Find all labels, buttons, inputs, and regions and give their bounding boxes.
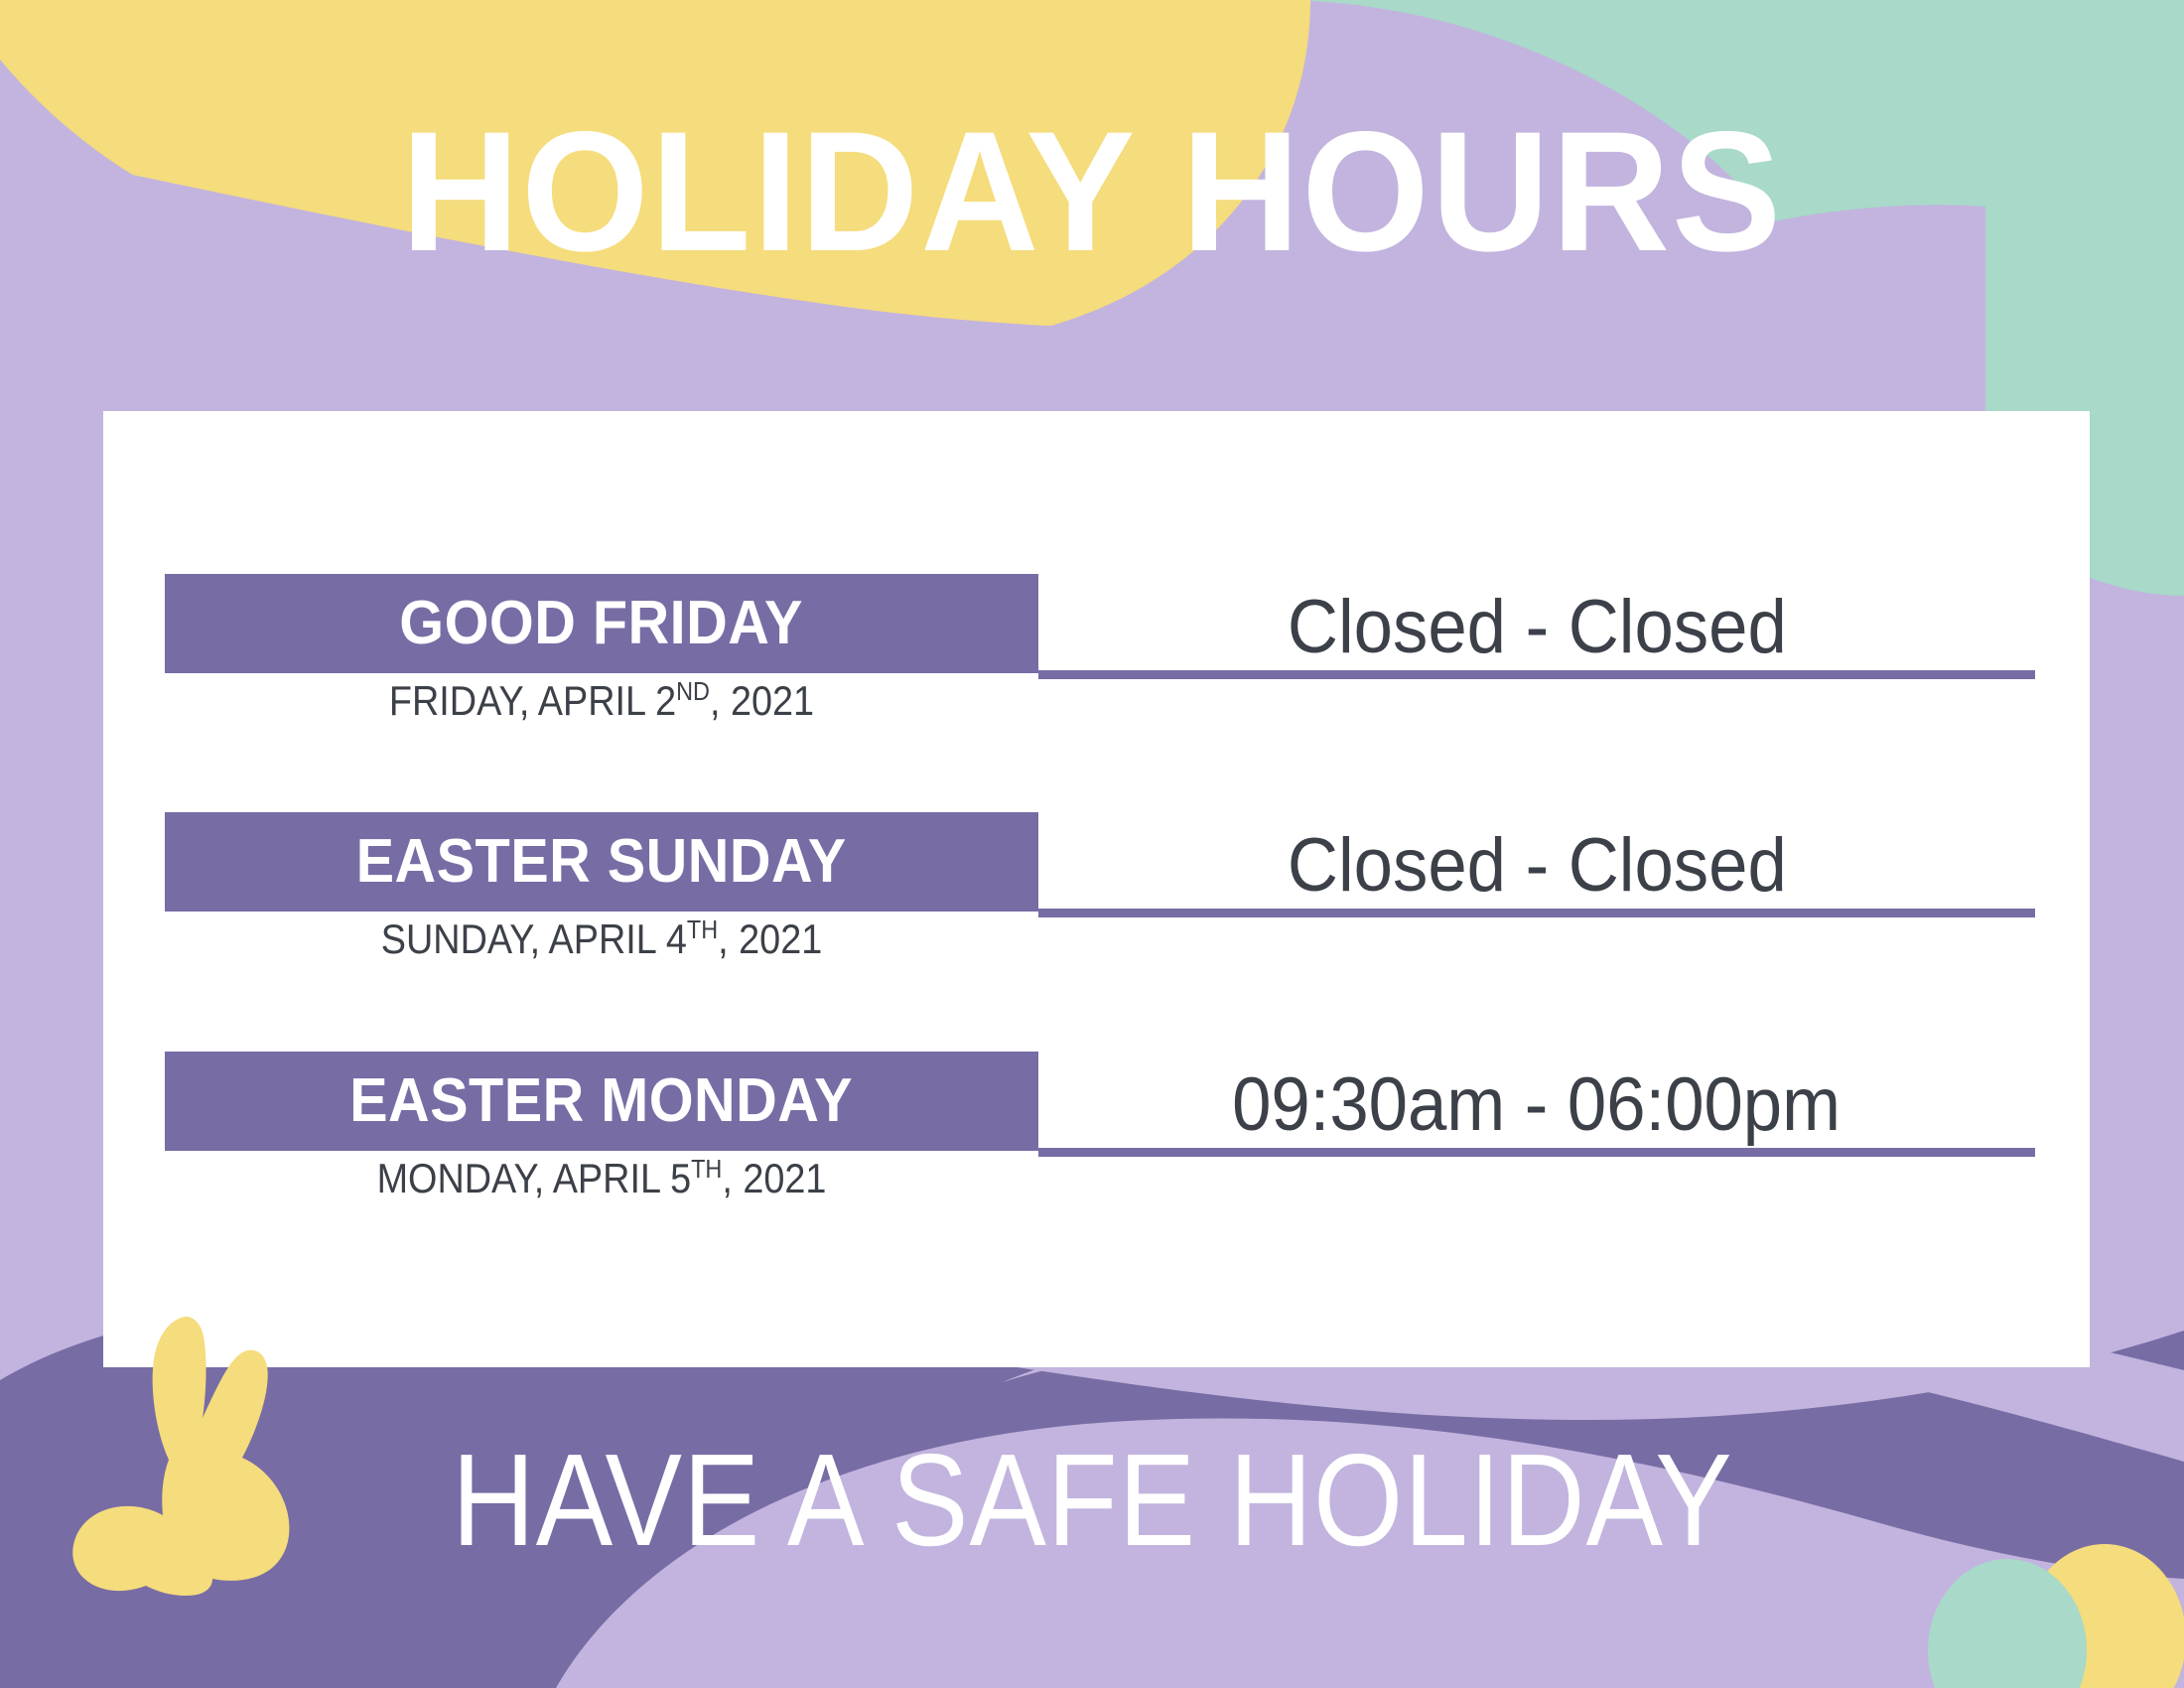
hours-card: GOOD FRIDAY FRIDAY, APRIL 2ND, 2021 Clos… [103,411,2090,1367]
holiday-name-label: EASTER MONDAY [350,1070,854,1132]
holiday-date-label: FRIDAY, APRIL 2ND, 2021 [208,677,995,725]
holiday-date-suffix: , 2021 [722,1155,826,1201]
holiday-date-ordinal: TH [687,914,718,944]
holiday-date-suffix: , 2021 [710,677,814,724]
holiday-name-bar: EASTER SUNDAY [165,812,1038,912]
holiday-hours-slot: Closed - Closed [1038,794,2035,917]
holiday-date-prefix: SUNDAY, APRIL 4 [381,915,687,962]
holiday-hours-label: Closed - Closed [1288,589,1787,666]
bunny-silhouette-icon [48,1301,306,1599]
holiday-hours-poster: HOLIDAY HOURS GOOD FRIDAY FRIDAY, APRIL … [0,0,2184,1688]
holiday-hours-slot: 09:30am - 06:00pm [1038,1034,2035,1157]
holiday-date-suffix: , 2021 [718,915,822,962]
holiday-name-bar: GOOD FRIDAY [165,574,1038,673]
holiday-hours-label: 09:30am - 06:00pm [1233,1066,1842,1144]
holiday-date-prefix: MONDAY, APRIL 5 [377,1155,692,1201]
holiday-name-label: GOOD FRIDAY [400,593,804,654]
holiday-name-bar: EASTER MONDAY [165,1052,1038,1151]
holiday-date-ordinal: TH [691,1154,722,1184]
holiday-hours-label: Closed - Closed [1288,827,1787,905]
easter-eggs-group [1916,1529,2184,1688]
holiday-date-label: MONDAY, APRIL 5TH, 2021 [208,1155,995,1202]
holiday-hours-slot: Closed - Closed [1038,556,2035,679]
holiday-date-prefix: FRIDAY, APRIL 2 [389,677,676,724]
holiday-name-label: EASTER SUNDAY [356,831,847,893]
holiday-date-ordinal: ND [676,676,710,706]
holiday-date-label: SUNDAY, APRIL 4TH, 2021 [208,915,995,963]
